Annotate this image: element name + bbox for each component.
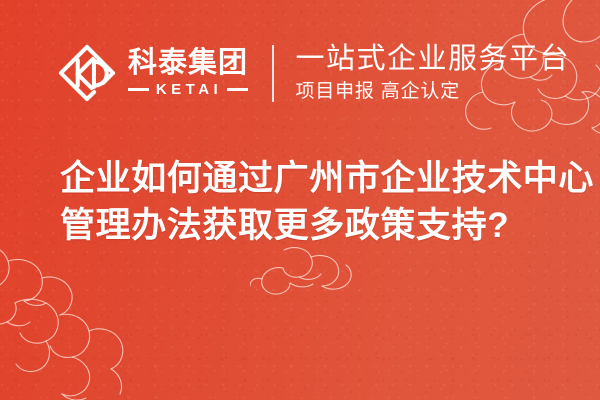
logo-wordmark: 科泰集团 KETAI xyxy=(128,49,248,98)
logo-dash-right xyxy=(227,88,248,91)
headline-line-2: 管理办法获取更多政策支持? xyxy=(60,202,570,249)
tagline-secondary: 项目申报 高企认定 xyxy=(296,81,571,103)
cloud-ornament-center xyxy=(250,244,360,296)
cloud-ornament-bottom-left xyxy=(0,240,192,400)
tagline-block: 一站式企业服务平台 项目申报 高企认定 xyxy=(296,43,571,103)
logo-company-name-cn: 科泰集团 xyxy=(128,49,248,79)
logo-company-name-en: KETAI xyxy=(149,82,227,97)
headline: 企业如何通过广州市企业技术中心 管理办法获取更多政策支持? xyxy=(60,155,570,249)
headline-line-1: 企业如何通过广州市企业技术中心 xyxy=(60,155,570,202)
ketai-diamond-monogram-icon xyxy=(58,44,116,102)
logo-dash-left xyxy=(128,88,149,91)
banner-header-row: 科泰集团 KETAI 一站式企业服务平台 项目申报 高企认定 xyxy=(58,40,570,106)
logo-english-row: KETAI xyxy=(128,82,248,97)
promotional-banner: 科泰集团 KETAI 一站式企业服务平台 项目申报 高企认定 企业如何通过广州市… xyxy=(0,0,600,400)
header-vertical-divider xyxy=(272,45,274,102)
tagline-primary: 一站式企业服务平台 xyxy=(296,43,571,75)
